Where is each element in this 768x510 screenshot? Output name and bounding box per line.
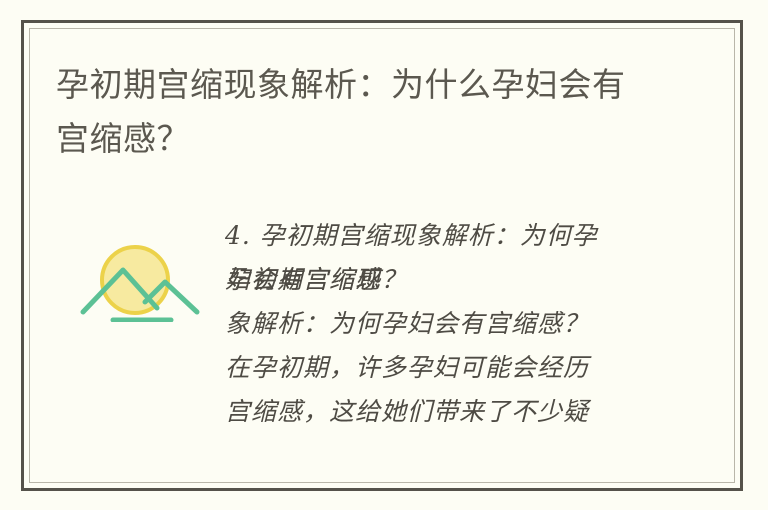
body-text-line-1: 4. 孕初期宫缩现象解析：为何孕 <box>225 214 695 258</box>
body-text-line-5: 宫缩感，这给她们带来了不少疑 <box>225 390 695 434</box>
article-page: 孕初期宫缩现象解析：为什么孕妇会有宫缩感？ 4. 孕初期宫缩现象解析：为何孕 孕… <box>0 0 768 510</box>
broken-image-placeholder-icon <box>75 230 207 322</box>
page-title: 孕初期宫缩现象解析：为什么孕妇会有宫缩感？ <box>56 58 656 166</box>
body-text-line-4: 在孕初期，许多孕妇可能会经历 <box>225 346 695 390</box>
body-text-block: 4. 孕初期宫缩现象解析：为何孕 孕初期宫缩现 妇会有宫缩感？ 象解析：为何孕妇… <box>225 198 695 478</box>
body-text-overlap-front: 妇会有宫缩感？ <box>225 258 695 302</box>
article-body: 4. 孕初期宫缩现象解析：为何孕 孕初期宫缩现 妇会有宫缩感？ 象解析：为何孕妇… <box>29 198 735 483</box>
page-content: 孕初期宫缩现象解析：为什么孕妇会有宫缩感？ 4. 孕初期宫缩现象解析：为何孕 孕… <box>29 28 735 483</box>
body-text-line-3: 象解析：为何孕妇会有宫缩感？ <box>225 302 695 346</box>
